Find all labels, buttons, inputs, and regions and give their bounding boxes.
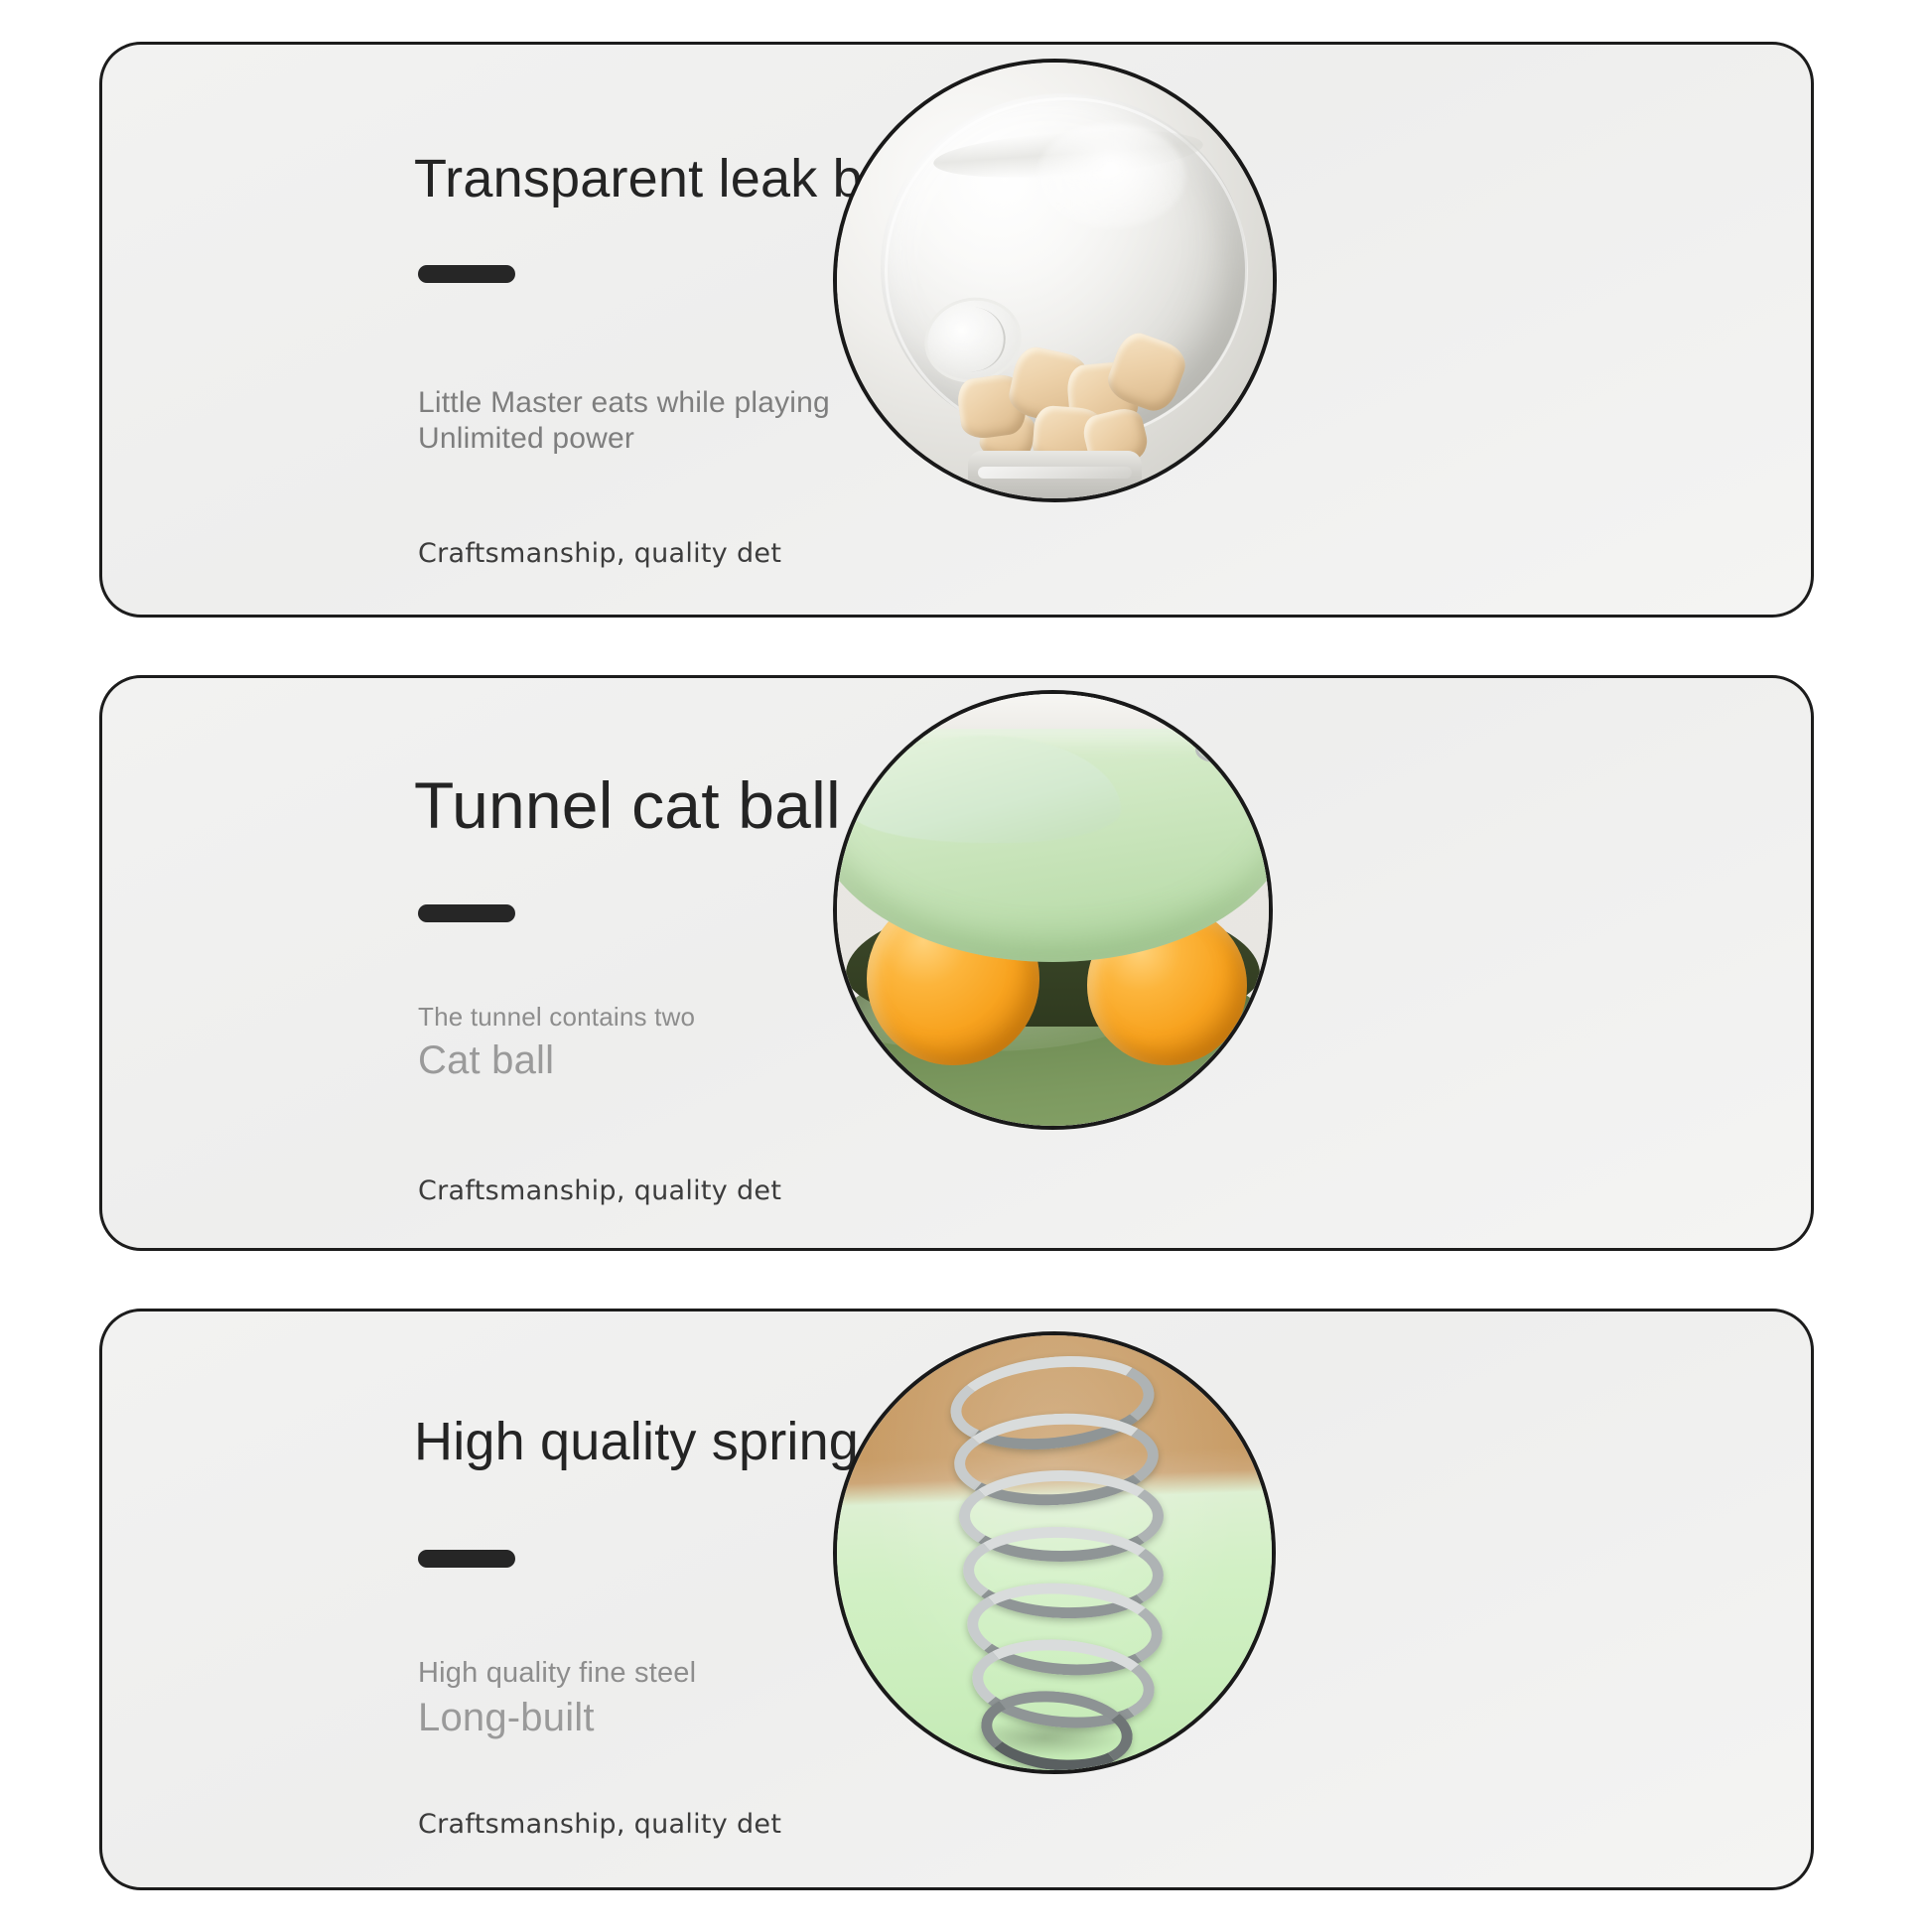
photo-inner xyxy=(837,63,1273,498)
spring-icon xyxy=(1195,694,1230,763)
card-subtext-group: High quality fine steel Long-built xyxy=(418,1657,895,1746)
card-title: High quality spring xyxy=(414,1415,859,1468)
high-quality-spring-photo xyxy=(833,1331,1276,1774)
sphere-gloss-highlight xyxy=(1037,123,1185,227)
card-subtext-group: The tunnel contains two Cat ball xyxy=(418,1003,895,1090)
photo-inner xyxy=(837,694,1269,1126)
card-subtext-secondary: Long-built xyxy=(418,1689,895,1746)
divider-dash-icon xyxy=(418,1550,515,1568)
divider-dash-icon xyxy=(418,265,515,283)
card-subtext-group: Little Master eats while playing Unlimit… xyxy=(418,387,895,460)
card-title: Tunnel cat ball xyxy=(414,772,841,838)
transparent-leak-ball-photo xyxy=(833,59,1277,502)
card-subtext-secondary: Cat ball xyxy=(418,1031,895,1090)
card-footnote: Craftsmanship, quality det xyxy=(418,1808,835,1843)
feature-card-high-quality-spring[interactable]: High quality spring High quality fine st… xyxy=(99,1309,1814,1890)
feature-card-tunnel-cat-ball[interactable]: Tunnel cat ball The tunnel contains two … xyxy=(99,675,1814,1251)
card-subtext-secondary: Unlimited power xyxy=(418,419,895,460)
tunnel-cat-ball-photo xyxy=(833,690,1273,1130)
product-feature-page: Transparent leak ball Little Master eats… xyxy=(0,0,1932,1932)
card-subtext-primary: The tunnel contains two xyxy=(418,1003,895,1031)
spring-coil xyxy=(1195,737,1236,762)
card-footnote: Craftsmanship, quality det xyxy=(418,537,835,572)
photo-inner xyxy=(837,1335,1272,1770)
ball-base-cap xyxy=(968,451,1143,498)
card-footnote: Craftsmanship, quality det xyxy=(418,1174,835,1209)
tunnel-lid-shape xyxy=(837,729,1269,962)
divider-dash-icon xyxy=(418,904,515,922)
feature-card-transparent-leak-ball[interactable]: Transparent leak ball Little Master eats… xyxy=(99,42,1814,618)
card-subtext-primary: High quality fine steel xyxy=(418,1657,895,1689)
tunnel-lid-highlight xyxy=(850,736,1121,843)
card-subtext-primary: Little Master eats while playing xyxy=(418,387,895,419)
